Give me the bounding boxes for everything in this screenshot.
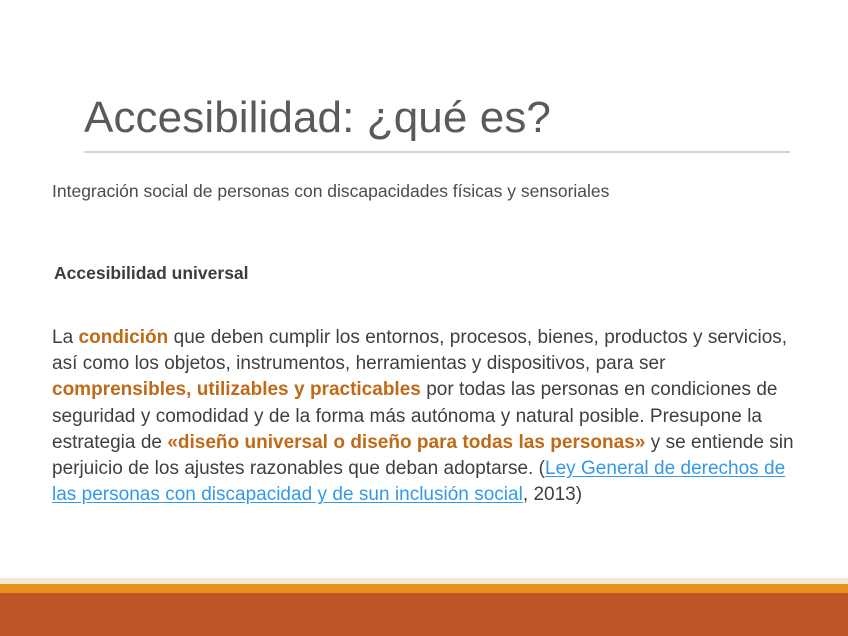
title-block: Accesibilidad: ¿qué es? [84,92,790,153]
body-paragraph: La condición que deben cumplir los entor… [52,325,808,508]
footer-band-orange [0,584,848,593]
page-title: Accesibilidad: ¿qué es? [84,92,790,144]
highlight-condicion: condición [79,327,169,348]
slide-canvas: Accesibilidad: ¿qué es? Integración soci… [0,0,848,636]
footer-band-rust [0,593,848,636]
section-heading: Accesibilidad universal [54,262,754,285]
body-text-segment-5: , 2013) [523,484,582,505]
highlight-diseno-universal: «diseño universal o diseño para todas la… [167,432,645,453]
highlight-comprensibles: comprensibles, utilizables y practicable… [52,379,421,400]
title-divider [84,151,790,153]
body-text-segment-1: La [52,327,79,348]
slide-subtitle: Integración social de personas con disca… [52,180,812,204]
